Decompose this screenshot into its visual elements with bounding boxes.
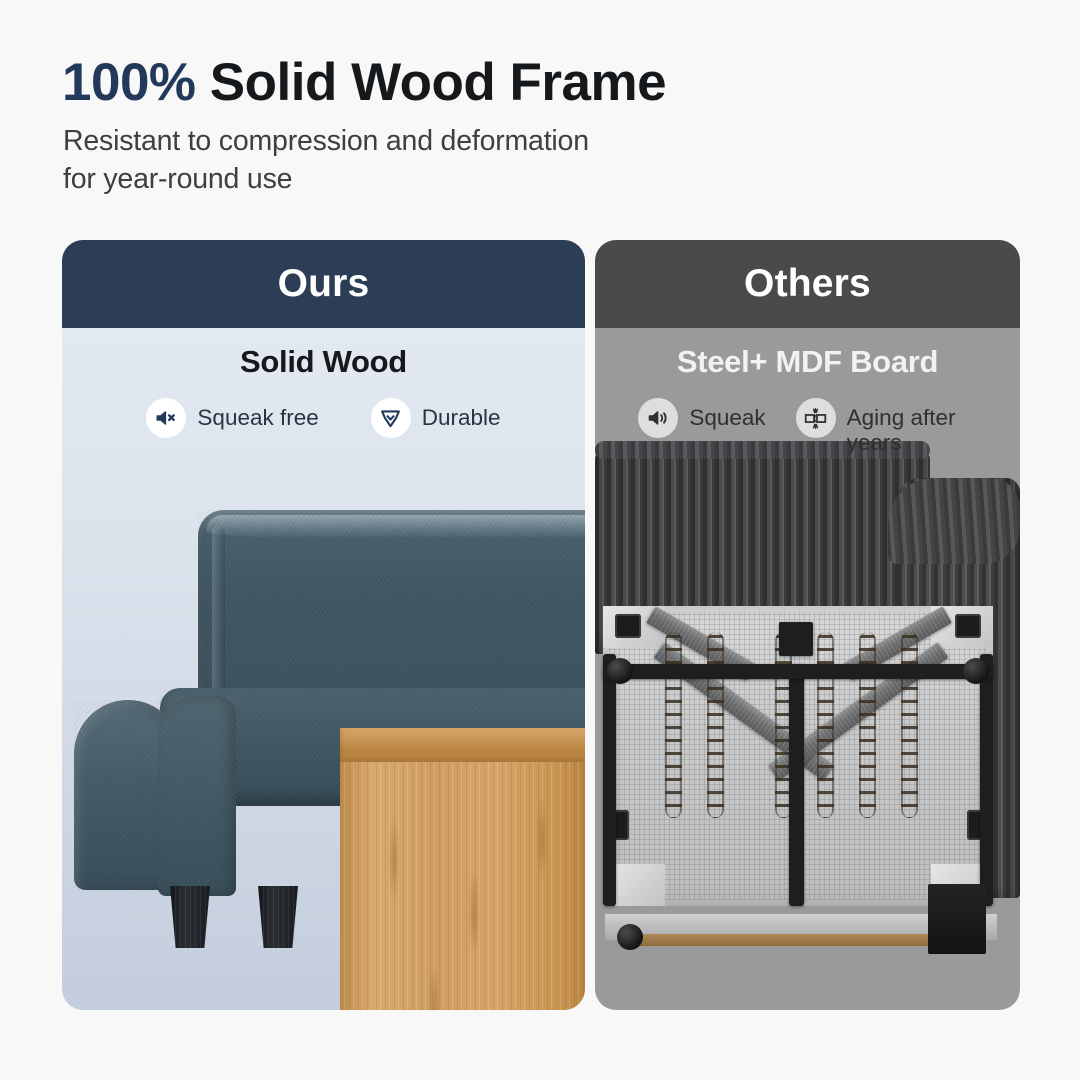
steel-mdf-frame: [603, 606, 993, 906]
steel-post-center: [789, 664, 804, 906]
solid-wood-frame-panel: [340, 728, 585, 1010]
speaker-mute-icon: [146, 398, 186, 438]
sofa-arm-inner: [158, 696, 236, 896]
feature-row-others: Squeak Aging after years: [595, 398, 1020, 455]
subtitle-line-2: for year-round use: [63, 160, 589, 198]
serpentine-spring: [817, 632, 834, 818]
title-rest: Solid Wood Frame: [196, 53, 667, 112]
frame-base-mdf-board: [621, 934, 981, 946]
panel-body-others: Steel+ MDF Board Squeak: [595, 328, 1020, 1010]
feature-squeak-free: Squeak free: [146, 398, 318, 438]
sofa-leg-left: [170, 886, 210, 948]
panel-header-others: Others: [595, 240, 1020, 328]
steel-rail-top: [603, 664, 993, 679]
title-highlight: 100%: [62, 53, 196, 112]
feature-durable: Durable: [371, 398, 501, 438]
corduroy-sofa-foot: [928, 884, 986, 954]
panel-header-ours-label: Ours: [278, 262, 370, 306]
serpentine-spring: [665, 632, 682, 818]
serpentine-spring: [859, 632, 876, 818]
comparison-panel-others: Others Steel+ MDF Board Squeak: [595, 240, 1020, 1010]
feature-aging-after-years: Aging after years: [796, 398, 977, 455]
spec-title-ours: Solid Wood: [62, 344, 585, 380]
spec-title-others: Steel+ MDF Board: [595, 344, 1020, 380]
steel-post-right: [980, 654, 993, 906]
infographic-page: 100% Solid Wood Frame Resistant to compr…: [0, 0, 1080, 1080]
feature-label-aging-after-years: Aging after years: [847, 398, 977, 455]
comparison-panel-ours: Ours Solid Wood Squeak free: [62, 240, 585, 1010]
feature-label-squeak-free: Squeak free: [197, 398, 318, 430]
frame-caster-wheel: [617, 924, 643, 950]
subtitle-line-1: Resistant to compression and deformation: [63, 122, 589, 160]
shield-check-icon: [371, 398, 411, 438]
feature-squeak: Squeak: [638, 398, 765, 438]
serpentine-spring: [901, 632, 918, 818]
panel-body-ours: Solid Wood Squeak free: [62, 328, 585, 1010]
serpentine-spring: [707, 632, 724, 818]
panel-header-others-label: Others: [744, 262, 871, 306]
spec-block-ours: Solid Wood Squeak free: [62, 328, 585, 438]
spec-block-others: Steel+ MDF Board Squeak: [595, 328, 1020, 455]
sofa-leg-right: [258, 886, 298, 948]
feature-label-squeak: Squeak: [689, 398, 765, 430]
feature-row-ours: Squeak free Durable: [62, 398, 585, 438]
center-hardware: [779, 622, 813, 656]
sofa-backrest: [198, 510, 585, 710]
panel-header-ours: Ours: [62, 240, 585, 328]
feature-label-durable: Durable: [422, 398, 501, 430]
speaker-sound-icon: [638, 398, 678, 438]
page-title: 100% Solid Wood Frame: [62, 52, 666, 113]
broken-board-icon: [796, 398, 836, 438]
steel-post-left: [603, 654, 616, 906]
page-subtitle: Resistant to compression and deformation…: [63, 122, 589, 198]
